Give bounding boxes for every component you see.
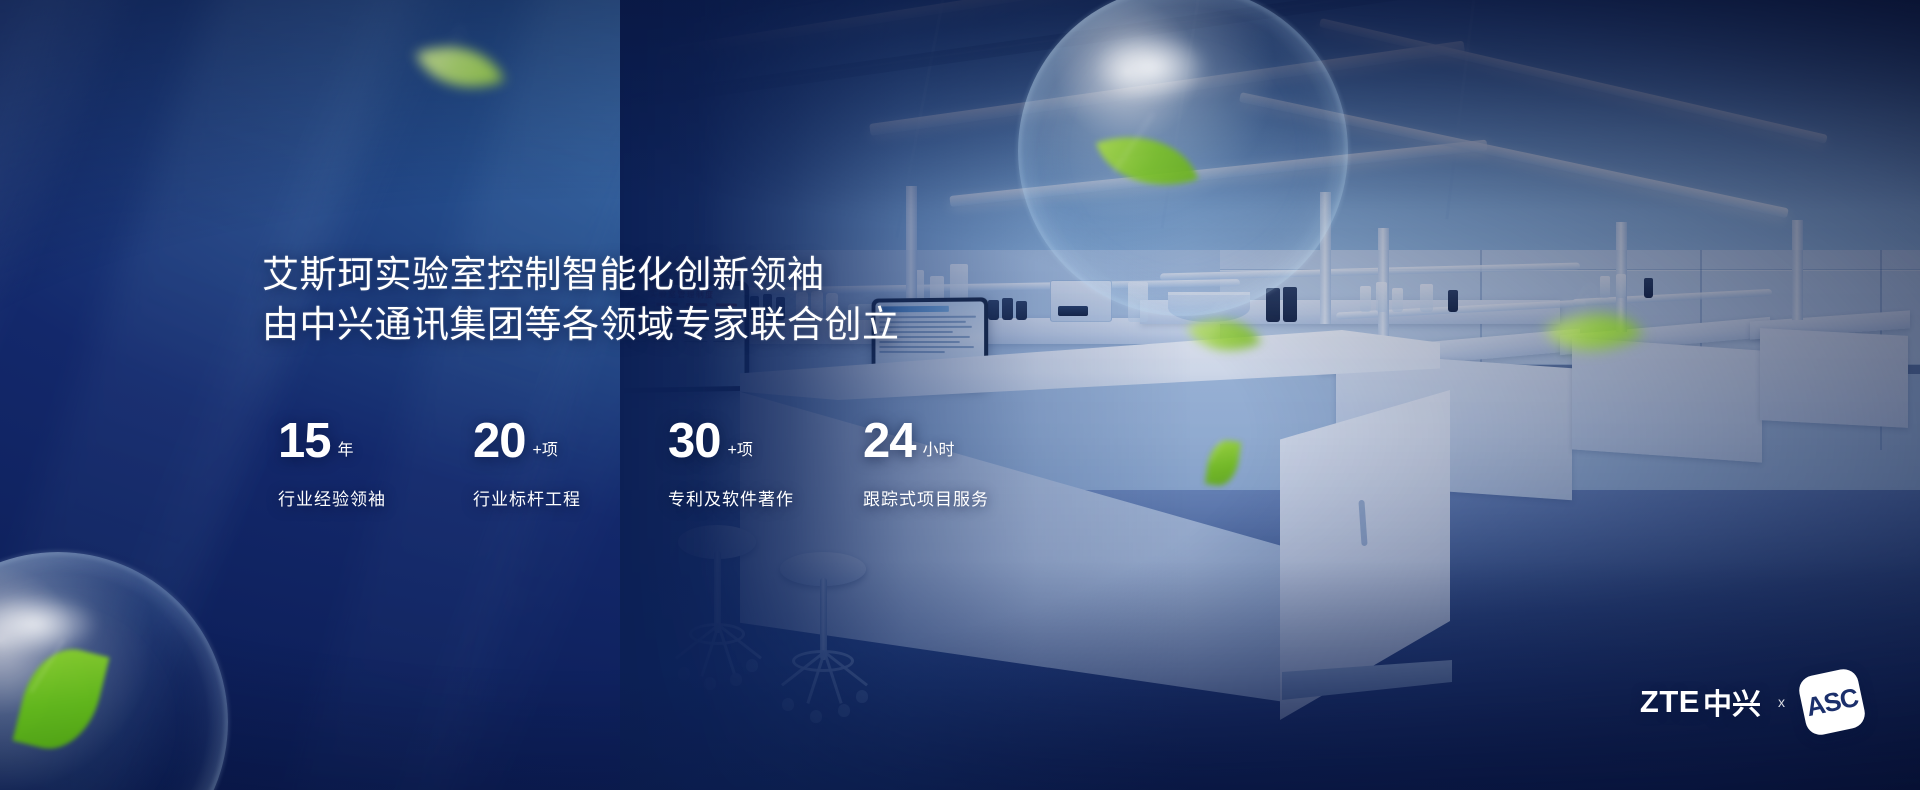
stats-row: 15 年 行业经验领袖 20 +项 行业标杆工程 30 +项 专利及软件著作	[278, 417, 1058, 510]
banner-content: 艾斯珂实验室控制智能化创新领袖 由中兴通讯集团等各领域专家联合创立 15 年 行…	[262, 250, 1058, 510]
stat-label: 跟踪式项目服务	[863, 485, 1058, 510]
logo-lockup: ZTE 中兴 x ASC	[1640, 672, 1862, 732]
stat-item-service: 24 小时 跟踪式项目服务	[863, 417, 1058, 510]
stat-item-benchmark-projects: 20 +项 行业标杆工程	[473, 417, 668, 510]
zte-chinese-text: 中兴	[1703, 681, 1761, 723]
stat-number: 24	[863, 417, 916, 466]
stat-unit: +项	[533, 436, 558, 460]
stat-number: 30	[668, 417, 721, 466]
asc-logo-text: ASC	[1803, 681, 1860, 722]
stat-item-patents: 30 +项 专利及软件著作	[668, 417, 863, 510]
stat-label: 行业经验领袖	[278, 485, 473, 510]
stat-unit: +项	[728, 436, 753, 460]
zte-logo: ZTE 中兴	[1640, 681, 1761, 723]
headline-line-1: 艾斯珂实验室控制智能化创新领袖	[262, 250, 1058, 300]
stat-unit: 年	[338, 436, 354, 460]
stat-item-experience: 15 年 行业经验领袖	[278, 417, 473, 510]
logo-separator: x	[1778, 694, 1785, 710]
stat-unit: 小时	[923, 436, 955, 460]
zte-latin-text: ZTE	[1640, 684, 1700, 720]
stat-number: 20	[473, 417, 526, 466]
stat-number: 15	[278, 417, 331, 466]
bubble-top-right	[1018, 0, 1348, 316]
asc-logo-badge: ASC	[1796, 666, 1867, 737]
headline-line-2: 由中兴通讯集团等各领域专家联合创立	[262, 300, 1058, 350]
stat-label: 行业标杆工程	[473, 485, 668, 510]
stat-label: 专利及软件著作	[668, 485, 863, 510]
banner-stage: 实验室管理制度	[0, 0, 1920, 790]
